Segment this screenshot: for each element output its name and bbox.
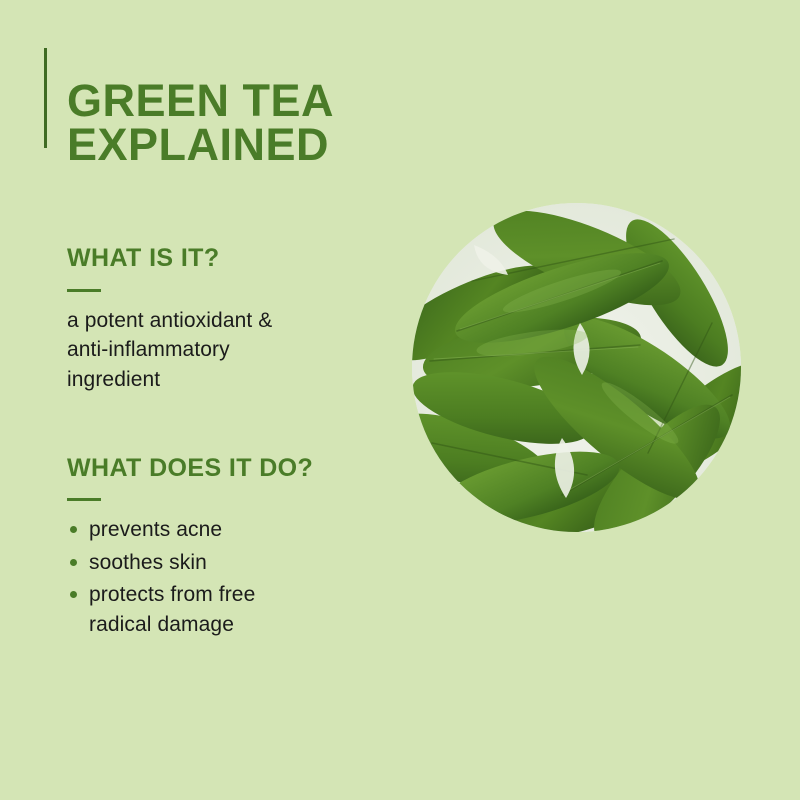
- section-what-is-it: WHAT IS IT? a potent antioxidant & anti-…: [67, 245, 397, 395]
- heading-underline: [67, 498, 101, 501]
- title-accent-rule: [44, 48, 47, 148]
- list-item: protects from free radical damage: [67, 580, 397, 639]
- section-heading-what-is-it: WHAT IS IT?: [67, 245, 397, 273]
- green-tea-leaves-image: [412, 203, 741, 532]
- section-heading-what-does-it-do: WHAT DOES IT DO?: [67, 455, 397, 483]
- section-body-what-is-it: a potent antioxidant & anti-inflammatory…: [67, 306, 397, 395]
- content-column: WHAT IS IT? a potent antioxidant & anti-…: [67, 245, 397, 642]
- list-item: soothes skin: [67, 548, 397, 577]
- benefits-list: prevents acne soothes skin protects from…: [67, 515, 397, 639]
- heading-underline: [67, 289, 101, 292]
- list-item: prevents acne: [67, 515, 397, 544]
- title-block: GREEN TEA EXPLAINED: [44, 48, 334, 197]
- leaf-illustration: [412, 203, 741, 532]
- infographic-poster: GREEN TEA EXPLAINED WHAT IS IT? a potent…: [0, 0, 800, 800]
- section-what-does-it-do: WHAT DOES IT DO? prevents acne soothes s…: [67, 455, 397, 639]
- page-title: GREEN TEA EXPLAINED: [67, 78, 334, 167]
